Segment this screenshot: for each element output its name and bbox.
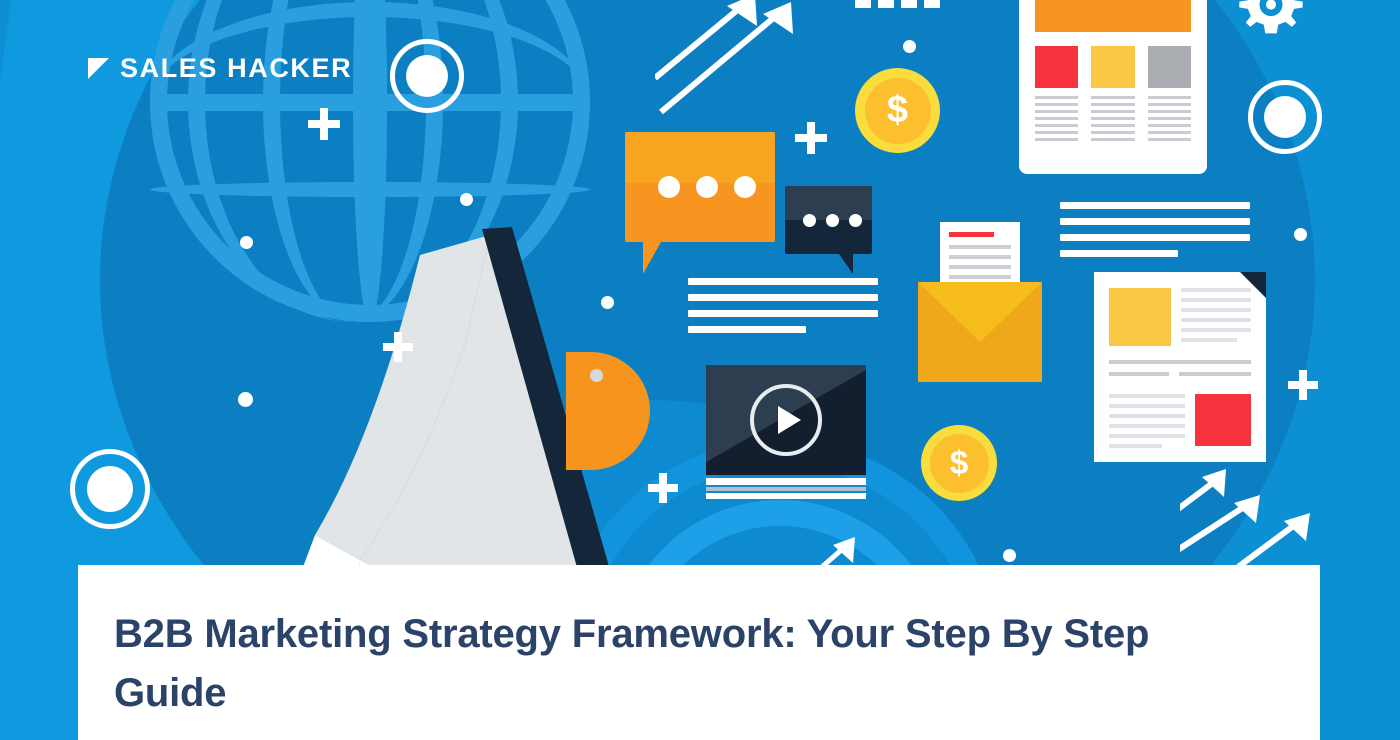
article-thumb-yellow [1109, 288, 1171, 346]
text-lines-topright [1060, 202, 1250, 266]
coin-symbol-small: $ [930, 434, 989, 493]
plus-icon [1288, 370, 1318, 400]
plus-icon [383, 332, 413, 362]
coin-dollar-large-icon: $ [855, 68, 940, 153]
newspaper-thumb-gray [1148, 46, 1191, 88]
video-player-icon [706, 365, 866, 504]
letter-headline [949, 232, 994, 237]
newspaper-column [1091, 46, 1134, 145]
envelope-flap [918, 282, 1042, 342]
decorative-dot [590, 369, 603, 382]
decorative-dot [460, 193, 473, 206]
logo-wordmark: SALES HACKER [120, 53, 352, 84]
newspaper-thumb-red [1035, 46, 1078, 88]
article-document-icon [1094, 272, 1266, 462]
email-envelope-icon [918, 222, 1042, 382]
newspaper-layout-icon [1019, 0, 1207, 174]
hero-illustration-stage: $ $ [0, 0, 1400, 740]
decorative-dot [903, 40, 916, 53]
decorative-dot [238, 392, 253, 407]
bar-chart-icon [855, 0, 940, 8]
coin-symbol-large: $ [865, 78, 931, 144]
decorative-dot [601, 296, 614, 309]
ring-circle-left [70, 449, 150, 529]
newspaper-column [1148, 46, 1191, 145]
decorative-dot [1294, 228, 1307, 241]
sales-hacker-logo[interactable]: SALES HACKER [88, 53, 352, 84]
plus-icon [308, 108, 340, 140]
triangle-mark-icon [88, 58, 109, 79]
decorative-dot [1003, 549, 1016, 562]
coin-dollar-small-icon: $ [921, 425, 997, 501]
speech-bubble-orange-icon [625, 132, 775, 242]
ring-circle-right [1248, 80, 1322, 154]
article-title-card: B2B Marketing Strategy Framework: Your S… [78, 565, 1320, 740]
play-button-icon [750, 384, 822, 456]
newspaper-thumb-yellow [1091, 46, 1134, 88]
growth-arrows-top [655, 0, 815, 120]
page-fold-corner [1240, 272, 1266, 298]
article-thumb-red [1195, 394, 1251, 446]
video-screen [706, 365, 866, 475]
newspaper-column [1035, 46, 1078, 145]
decorative-dot [240, 236, 253, 249]
speech-bubble-navy-icon [785, 186, 872, 254]
plus-icon [795, 122, 827, 154]
plus-icon [648, 473, 678, 503]
text-lines-center [688, 278, 878, 342]
gear-icon [1235, 0, 1307, 42]
ring-circle-top [390, 39, 464, 113]
page-title: B2B Marketing Strategy Framework: Your S… [114, 605, 1244, 723]
newspaper-banner [1035, 0, 1191, 32]
